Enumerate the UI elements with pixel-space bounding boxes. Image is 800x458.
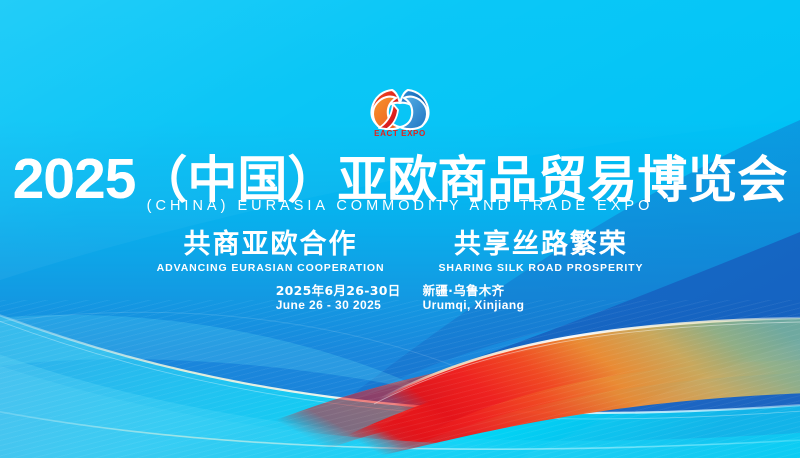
event-place: 新疆·乌鲁木齐 Urumqi, Xinjiang <box>423 283 525 313</box>
slogan-item: 共商亚欧合作 ADVANCING EURASIAN COOPERATION <box>157 230 385 274</box>
event-date-english: June 26 - 30 2025 <box>276 298 401 313</box>
expo-banner: EACT EXPO 2025 （中国）亚欧商品贸易博览会 (CHINA) EUR… <box>0 0 800 458</box>
slogan-english: SHARING SILK ROAD PROSPERITY <box>438 263 643 274</box>
event-place-english: Urumqi, Xinjiang <box>423 298 525 313</box>
slogan-group: 共商亚欧合作 ADVANCING EURASIAN COOPERATION 共享… <box>0 230 800 274</box>
eact-expo-logo: EACT EXPO <box>352 82 448 140</box>
logo-wordmark: EACT EXPO <box>374 129 426 138</box>
slogan-item: 共享丝路繁荣 SHARING SILK ROAD PROSPERITY <box>438 230 643 274</box>
slogan-chinese: 共享丝路繁荣 <box>438 230 643 260</box>
event-place-chinese: 新疆·乌鲁木齐 <box>423 283 525 298</box>
slogan-english: ADVANCING EURASIAN COOPERATION <box>157 263 385 274</box>
slogan-chinese: 共商亚欧合作 <box>157 230 385 260</box>
banner-content: EACT EXPO 2025 （中国）亚欧商品贸易博览会 (CHINA) EUR… <box>0 0 800 458</box>
event-date-chinese: 2025年6月26-30日 <box>276 283 401 298</box>
title-english: (CHINA) EURASIA COMMODITY AND TRADE EXPO <box>0 198 800 214</box>
event-date: 2025年6月26-30日 June 26 - 30 2025 <box>276 283 401 313</box>
event-info: 2025年6月26-30日 June 26 - 30 2025 新疆·乌鲁木齐 … <box>0 283 800 313</box>
